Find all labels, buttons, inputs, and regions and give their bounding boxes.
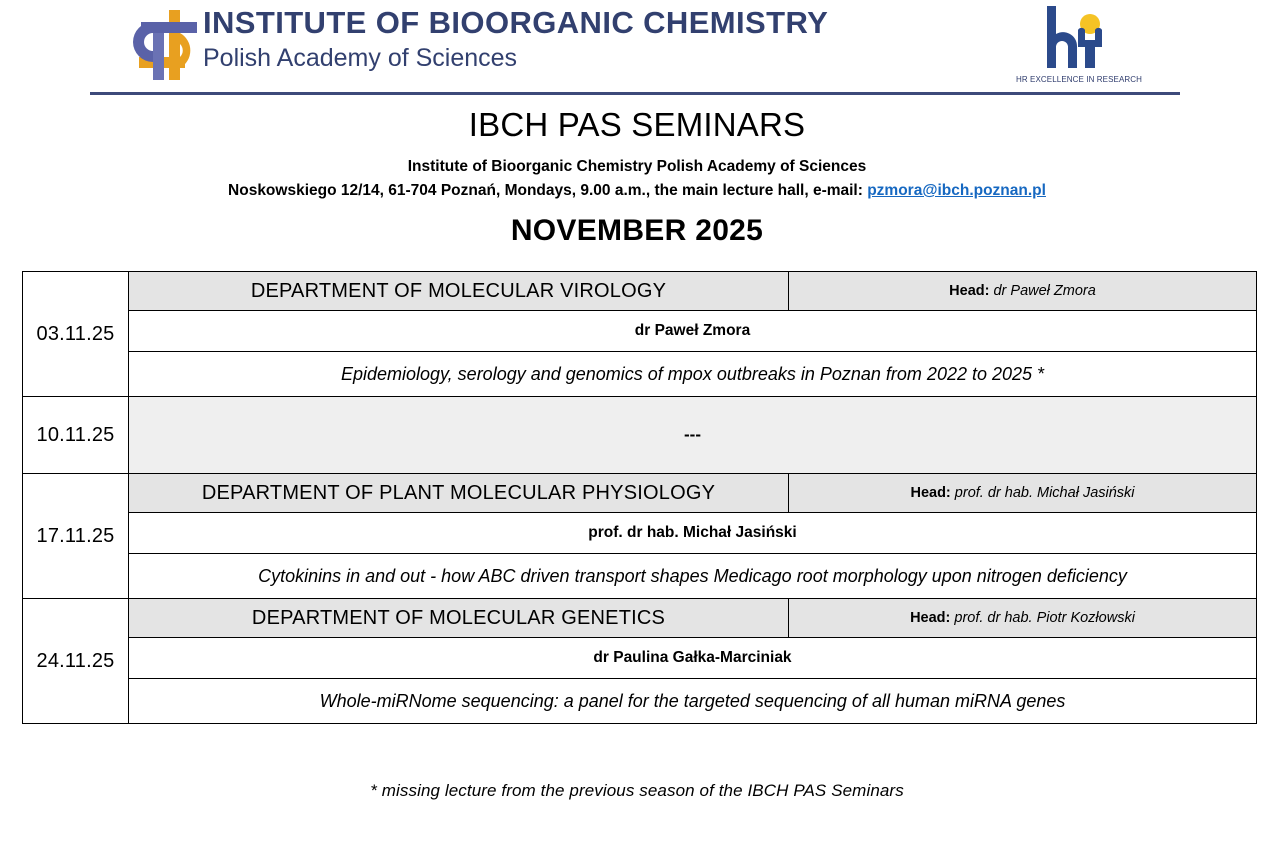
table-row: prof. dr hab. Michał Jasiński	[23, 513, 1257, 554]
page-title: IBCH PAS SEMINARS	[0, 105, 1274, 145]
head-name: dr Paweł Zmora	[993, 283, 1095, 299]
lecture-title: Epidemiology, serology and genomics of m…	[129, 352, 1257, 397]
speaker-name: dr Paulina Gałka-Marciniak	[129, 638, 1257, 679]
letterhead: INSTITUTE OF BIOORGANIC CHEMISTRY Polish…	[0, 0, 1274, 96]
table-row: 03.11.25 DEPARTMENT OF MOLECULAR VIROLOG…	[23, 272, 1257, 311]
no-seminar-placeholder: ---	[129, 397, 1257, 474]
table-row: Epidemiology, serology and genomics of m…	[23, 352, 1257, 397]
institute-titles: INSTITUTE OF BIOORGANIC CHEMISTRY Polish…	[203, 4, 828, 74]
lecture-title: Whole-miRNome sequencing: a panel for th…	[129, 679, 1257, 724]
head-name: prof. dr hab. Michał Jasiński	[955, 485, 1135, 501]
speaker-name: prof. dr hab. Michał Jasiński	[129, 513, 1257, 554]
schedule-date: 10.11.25	[23, 397, 129, 474]
institute-name: INSTITUTE OF BIOORGANIC CHEMISTRY	[203, 4, 828, 42]
letterhead-divider	[90, 92, 1180, 95]
lecture-title: Cytokinins in and out - how ABC driven t…	[129, 554, 1257, 599]
footnote: * missing lecture from the previous seas…	[0, 781, 1274, 801]
speaker-name: dr Paweł Zmora	[129, 311, 1257, 352]
table-row: 17.11.25 DEPARTMENT OF PLANT MOLECULAR P…	[23, 474, 1257, 513]
department-name: DEPARTMENT OF MOLECULAR GENETICS	[129, 599, 789, 638]
head-label: Head:	[949, 283, 989, 299]
department-name: DEPARTMENT OF MOLECULAR VIROLOGY	[129, 272, 789, 311]
head-name: prof. dr hab. Piotr Kozłowski	[954, 610, 1135, 626]
department-name: DEPARTMENT OF PLANT MOLECULAR PHYSIOLOGY	[129, 474, 789, 513]
seminar-address-line: Noskowskiego 12/14, 61-704 Poznań, Monda…	[0, 179, 1274, 203]
institute-subtitle: Polish Academy of Sciences	[203, 42, 828, 74]
table-row: Whole-miRNome sequencing: a panel for th…	[23, 679, 1257, 724]
schedule-date: 24.11.25	[23, 599, 129, 724]
hr-excellence-icon	[1023, 4, 1123, 84]
ibch-logo-icon	[131, 8, 205, 82]
table-row: dr Paulina Gałka-Marciniak	[23, 638, 1257, 679]
seminar-schedule-table: 03.11.25 DEPARTMENT OF MOLECULAR VIROLOG…	[22, 271, 1257, 724]
department-head: Head: dr Paweł Zmora	[789, 272, 1257, 311]
seminar-institute-line: Institute of Bioorganic Chemistry Polish…	[0, 155, 1274, 179]
department-head: Head: prof. dr hab. Michał Jasiński	[789, 474, 1257, 513]
table-row: 10.11.25 ---	[23, 397, 1257, 474]
department-head: Head: prof. dr hab. Piotr Kozłowski	[789, 599, 1257, 638]
schedule-date: 17.11.25	[23, 474, 129, 599]
table-row: Cytokinins in and out - how ABC driven t…	[23, 554, 1257, 599]
seminar-email-link[interactable]: pzmora@ibch.poznan.pl	[867, 182, 1046, 199]
table-row: dr Paweł Zmora	[23, 311, 1257, 352]
head-label: Head:	[910, 610, 950, 626]
seminar-header: IBCH PAS SEMINARS Institute of Bioorgani…	[0, 105, 1274, 250]
head-label: Head:	[910, 485, 950, 501]
table-row: 24.11.25 DEPARTMENT OF MOLECULAR GENETIC…	[23, 599, 1257, 638]
seminar-month: NOVEMBER 2025	[0, 212, 1274, 250]
schedule-date: 03.11.25	[23, 272, 129, 397]
hr-excellence-caption: HR EXCELLENCE IN RESEARCH	[998, 75, 1160, 84]
seminar-address-text: Noskowskiego 12/14, 61-704 Poznań, Monda…	[228, 182, 867, 199]
